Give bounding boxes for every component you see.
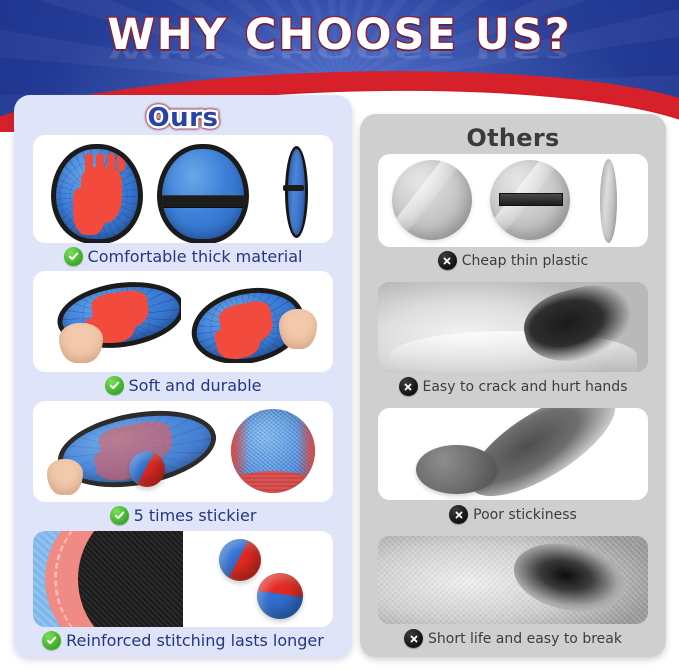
ours-panel: Ours (14, 95, 352, 657)
others-feature-4-caption: Short life and easy to break (360, 629, 666, 648)
others-feature-1: Cheap thin plastic (360, 154, 666, 280)
others-feature-2-caption: Easy to crack and hurt hands (360, 377, 666, 396)
ours-feature-4-image (33, 531, 333, 627)
ball-texture-closeup (231, 409, 315, 493)
others-feature-3-caption: Poor stickiness (360, 505, 666, 524)
ours-feature-4: Reinforced stitching lasts longer (14, 531, 352, 657)
infographic-root: WHY CHOOSE US? WHY CHOOSE US? Ours (0, 0, 679, 671)
catch-ball (257, 573, 303, 619)
ours-feature-1: Comfortable thick material (14, 135, 352, 270)
ours-feature-4-caption: Reinforced stitching lasts longer (14, 631, 352, 650)
others-feature-4: Short life and easy to break (360, 536, 666, 656)
ball-sticking-scene (47, 407, 219, 495)
ours-feature-2: Soft and durable (14, 271, 352, 401)
others-feature-3-image (378, 408, 648, 500)
catch-ball (129, 451, 165, 487)
ours-feature-1-caption: Comfortable thick material (14, 247, 352, 266)
caption-text: Soft and durable (129, 378, 262, 394)
check-circle-icon (105, 376, 124, 395)
mitt-back-view (157, 144, 249, 243)
stitching-closeup (33, 531, 183, 627)
others-feature-3: Poor stickiness (360, 408, 666, 532)
caption-text: Cheap thin plastic (462, 254, 588, 268)
others-feature-1-image (378, 154, 648, 247)
elastic-strap (160, 195, 245, 208)
x-circle-icon (399, 377, 418, 396)
others-feature-4-image (378, 536, 648, 624)
ours-feature-2-caption: Soft and durable (14, 376, 352, 395)
x-circle-icon (438, 251, 457, 270)
catch-ball (219, 539, 261, 581)
x-circle-icon (404, 629, 423, 648)
caption-text: Short life and easy to break (428, 632, 622, 646)
hand-wearing (279, 309, 317, 349)
side-strap (283, 185, 304, 191)
others-feature-2-image (378, 282, 648, 372)
check-circle-icon (42, 631, 61, 650)
others-panel-title: Others (360, 126, 666, 150)
hand-holding (59, 323, 103, 363)
ours-feature-3-image (33, 401, 333, 502)
check-circle-icon (64, 247, 83, 266)
mitt-front-view (51, 144, 143, 243)
mitt-flex-right (189, 279, 317, 363)
x-circle-icon (449, 505, 468, 524)
page-title: WHY CHOOSE US? (0, 14, 679, 57)
plastic-disc-side (600, 159, 617, 243)
ours-feature-3-caption: 5 times stickier (14, 506, 352, 525)
mitt-side-view (285, 146, 308, 238)
ours-feature-1-image (33, 135, 333, 243)
ours-feature-3: 5 times stickier (14, 401, 352, 531)
caption-text: Comfortable thick material (88, 249, 303, 265)
others-feature-2: Easy to crack and hurt hands (360, 282, 666, 404)
ours-feature-2-image (33, 271, 333, 372)
plastic-disc-front (392, 160, 472, 240)
plastic-disc-back (490, 160, 570, 240)
caption-text: Poor stickiness (473, 508, 577, 522)
caption-text: Easy to crack and hurt hands (423, 380, 628, 394)
caption-text: 5 times stickier (134, 508, 257, 524)
check-circle-icon (110, 506, 129, 525)
caption-text: Reinforced stitching lasts longer (66, 633, 324, 649)
mitt-flex-left (51, 279, 181, 363)
others-feature-1-caption: Cheap thin plastic (360, 251, 666, 270)
red-hand-graphic (81, 167, 122, 223)
ours-panel-title: Ours (14, 105, 352, 131)
others-panel: Others Cheap thin plastic (360, 114, 666, 657)
